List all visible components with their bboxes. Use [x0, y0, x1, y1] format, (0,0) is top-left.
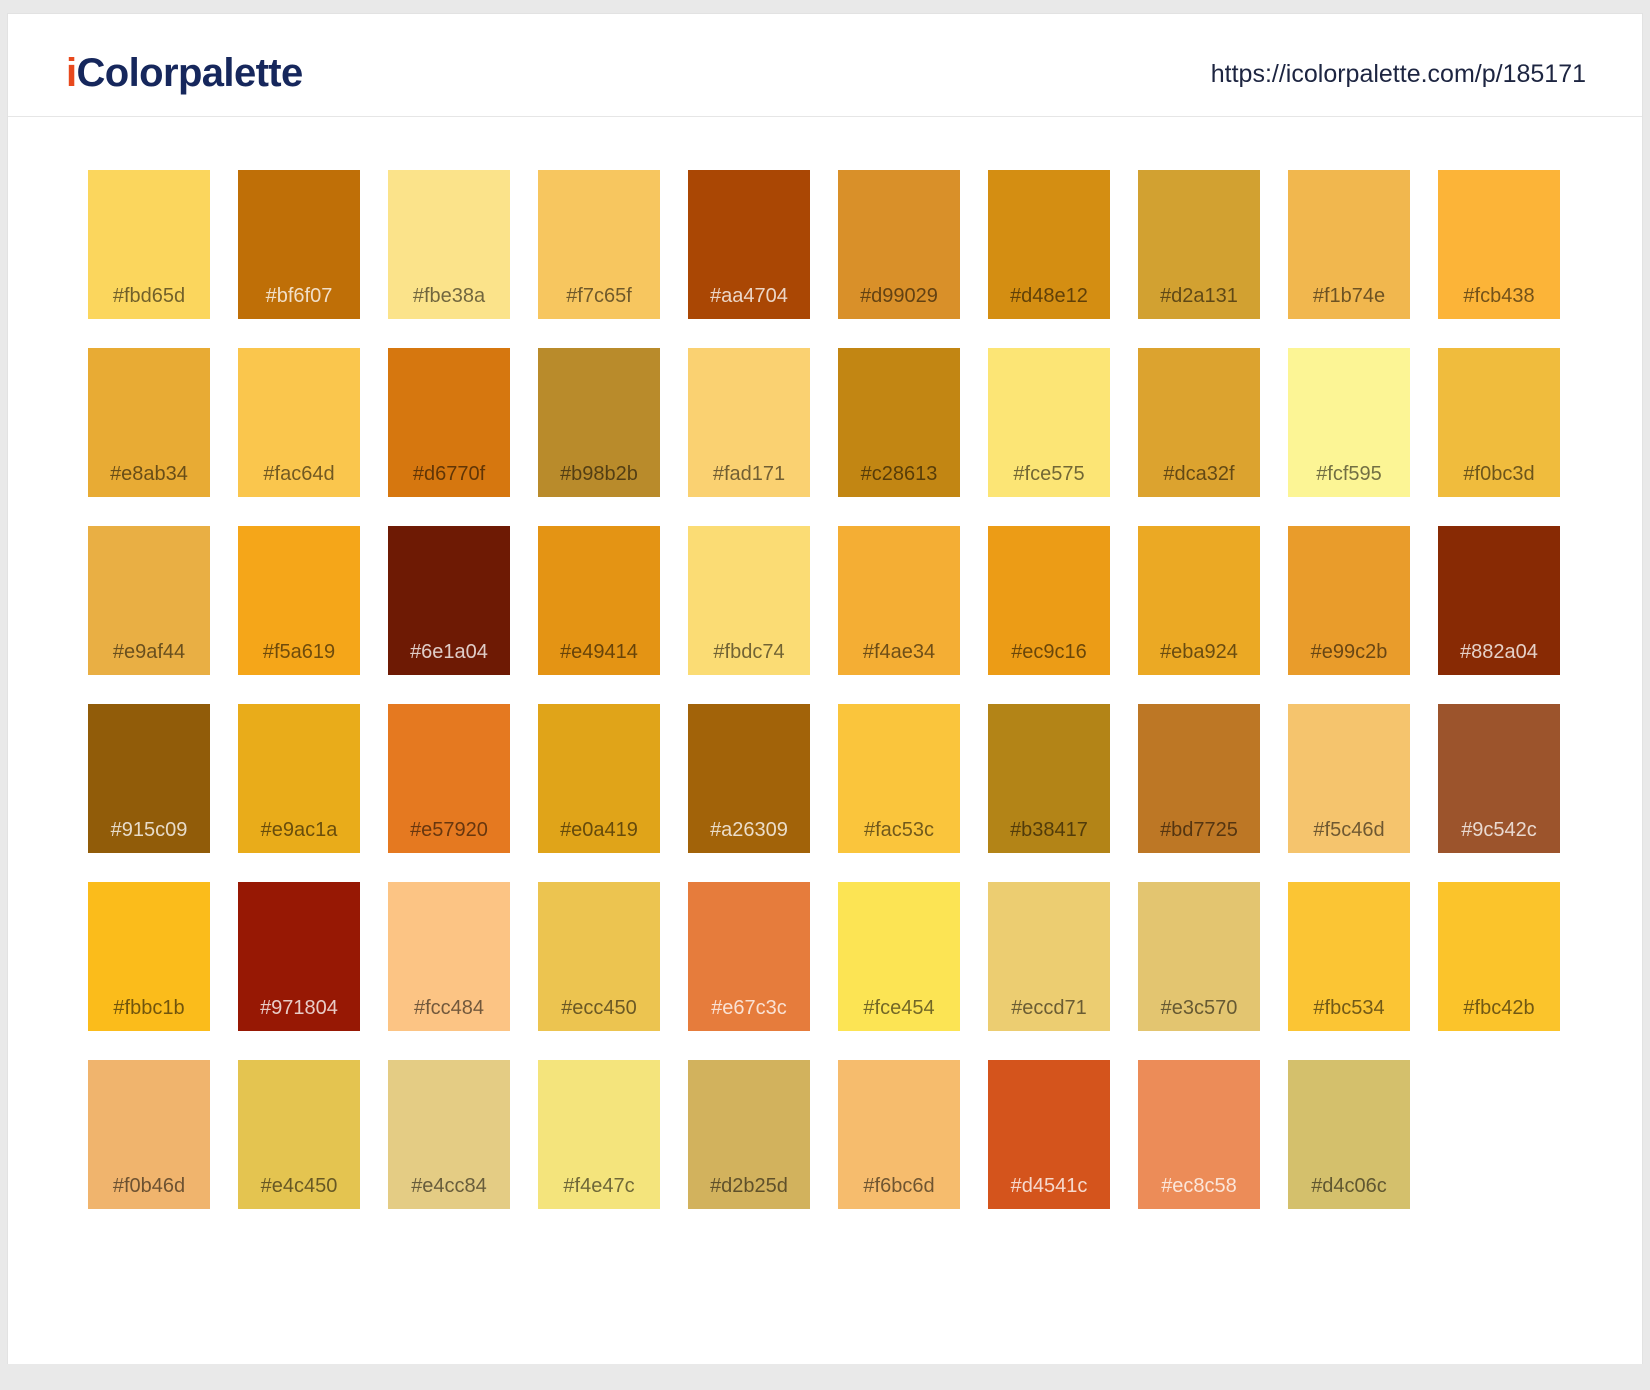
footer-strip: [8, 1340, 1642, 1364]
color-hex-label: #fbe38a: [388, 286, 510, 306]
color-hex-label: #d99029: [838, 286, 960, 306]
color-hex-label: #d6770f: [388, 464, 510, 484]
color-hex-label: #e0a419: [538, 820, 660, 840]
color-hex-label: #9c542c: [1438, 820, 1560, 840]
color-hex-label: #e3c570: [1138, 998, 1260, 1018]
color-swatch[interactable]: #fbc42b: [1424, 882, 1574, 1031]
color-hex-label: #b38417: [988, 820, 1110, 840]
color-swatch[interactable]: #f6bc6d: [824, 1060, 974, 1209]
color-hex-label: #fac64d: [238, 464, 360, 484]
color-swatch[interactable]: #f5a619: [224, 526, 374, 675]
color-hex-label: #e9ac1a: [238, 820, 360, 840]
color-swatch[interactable]: #e9ac1a: [224, 704, 374, 853]
color-swatch[interactable]: #915c09: [74, 704, 224, 853]
color-hex-label: #fbdc74: [688, 642, 810, 662]
color-hex-label: #b98b2b: [538, 464, 660, 484]
color-swatch[interactable]: #e4c450: [224, 1060, 374, 1209]
color-swatch[interactable]: #dca32f: [1124, 348, 1274, 497]
color-swatch[interactable]: #d6770f: [374, 348, 524, 497]
color-swatch[interactable]: #b98b2b: [524, 348, 674, 497]
color-swatch[interactable]: #fcc484: [374, 882, 524, 1031]
color-swatch[interactable]: #fce575: [974, 348, 1124, 497]
color-hex-label: #ecc450: [538, 998, 660, 1018]
color-hex-label: #e99c2b: [1288, 642, 1410, 662]
content-sheet: iColorpalette https://icolorpalette.com/…: [8, 14, 1642, 1364]
color-swatch[interactable]: #9c542c: [1424, 704, 1574, 853]
color-hex-label: #eccd71: [988, 998, 1110, 1018]
bottom-bar: [0, 1364, 1650, 1390]
color-swatch[interactable]: #fbbc1b: [74, 882, 224, 1031]
color-swatch[interactable]: #d48e12: [974, 170, 1124, 319]
color-hex-label: #a26309: [688, 820, 810, 840]
color-hex-label: #eba924: [1138, 642, 1260, 662]
site-header: iColorpalette https://icolorpalette.com/…: [8, 14, 1642, 117]
color-hex-label: #e9af44: [88, 642, 210, 662]
color-swatch[interactable]: #6e1a04: [374, 526, 524, 675]
color-swatch[interactable]: #f4ae34: [824, 526, 974, 675]
color-swatch[interactable]: #e9af44: [74, 526, 224, 675]
color-swatch[interactable]: #eba924: [1124, 526, 1274, 675]
color-hex-label: #fcc484: [388, 998, 510, 1018]
color-swatch[interactable]: #f1b74e: [1274, 170, 1424, 319]
color-swatch[interactable]: #fcb438: [1424, 170, 1574, 319]
color-hex-label: #fcf595: [1288, 464, 1410, 484]
color-swatch[interactable]: #e4cc84: [374, 1060, 524, 1209]
color-hex-label: #e57920: [388, 820, 510, 840]
color-swatch[interactable]: #ec8c58: [1124, 1060, 1274, 1209]
color-swatch[interactable]: #d99029: [824, 170, 974, 319]
color-swatch[interactable]: #fcf595: [1274, 348, 1424, 497]
color-hex-label: #aa4704: [688, 286, 810, 306]
color-hex-label: #d48e12: [988, 286, 1110, 306]
page-root: iColorpalette https://icolorpalette.com/…: [0, 0, 1650, 1390]
color-hex-label: #fbc534: [1288, 998, 1410, 1018]
color-hex-label: #f4e47c: [538, 1176, 660, 1196]
color-swatch[interactable]: #bd7725: [1124, 704, 1274, 853]
palette-row: #fbbc1b#971804#fcc484#ecc450#e67c3c#fce4…: [74, 882, 1574, 1031]
color-hex-label: #fbc42b: [1438, 998, 1560, 1018]
color-hex-label: #d2a131: [1138, 286, 1260, 306]
color-hex-label: #e67c3c: [688, 998, 810, 1018]
color-hex-label: #e4cc84: [388, 1176, 510, 1196]
color-hex-label: #f0b46d: [88, 1176, 210, 1196]
color-swatch[interactable]: #b38417: [974, 704, 1124, 853]
palette-row: #f0b46d#e4c450#e4cc84#f4e47c#d2b25d#f6bc…: [74, 1060, 1574, 1209]
color-hex-label: #915c09: [88, 820, 210, 840]
color-hex-label: #f4ae34: [838, 642, 960, 662]
color-hex-label: #e4c450: [238, 1176, 360, 1196]
color-hex-label: #fac53c: [838, 820, 960, 840]
site-logo[interactable]: iColorpalette: [66, 53, 303, 93]
color-hex-label: #fcb438: [1438, 286, 1560, 306]
color-hex-label: #ec9c16: [988, 642, 1110, 662]
color-hex-label: #bf6f07: [238, 286, 360, 306]
color-hex-label: #fbbc1b: [88, 998, 210, 1018]
color-hex-label: #f5a619: [238, 642, 360, 662]
color-swatch[interactable]: #f0b46d: [74, 1060, 224, 1209]
color-swatch[interactable]: #e57920: [374, 704, 524, 853]
palette-row: #e8ab34#fac64d#d6770f#b98b2b#fad171#c286…: [74, 348, 1574, 497]
color-hex-label: #fad171: [688, 464, 810, 484]
color-swatch[interactable]: #fbd65d: [74, 170, 224, 319]
color-swatch[interactable]: #fbc534: [1274, 882, 1424, 1031]
color-hex-label: #e8ab34: [88, 464, 210, 484]
palette-row: #fbd65d#bf6f07#fbe38a#f7c65f#aa4704#d990…: [74, 170, 1574, 319]
color-swatch[interactable]: #ec9c16: [974, 526, 1124, 675]
color-swatch[interactable]: #d4541c: [974, 1060, 1124, 1209]
logo-wordmark: Colorpalette: [77, 51, 303, 95]
color-swatch[interactable]: #e8ab34: [74, 348, 224, 497]
color-swatch[interactable]: #fbe38a: [374, 170, 524, 319]
color-swatch[interactable]: #fac64d: [224, 348, 374, 497]
logo-letter-i: i: [66, 51, 77, 95]
color-swatch[interactable]: #e3c570: [1124, 882, 1274, 1031]
color-hex-label: #971804: [238, 998, 360, 1018]
color-hex-label: #f5c46d: [1288, 820, 1410, 840]
color-hex-label: #bd7725: [1138, 820, 1260, 840]
color-hex-label: #6e1a04: [388, 642, 510, 662]
color-hex-label: #fce454: [838, 998, 960, 1018]
color-swatch[interactable]: #fce454: [824, 882, 974, 1031]
page-url: https://icolorpalette.com/p/185171: [1211, 62, 1586, 87]
color-hex-label: #882a04: [1438, 642, 1560, 662]
color-hex-label: #ec8c58: [1138, 1176, 1260, 1196]
color-swatch[interactable]: #d2b25d: [674, 1060, 824, 1209]
color-swatch[interactable]: #ecc450: [524, 882, 674, 1031]
color-swatch[interactable]: #e99c2b: [1274, 526, 1424, 675]
color-hex-label: #d4541c: [988, 1176, 1110, 1196]
color-hex-label: #d4c06c: [1288, 1176, 1410, 1196]
color-hex-label: #f0bc3d: [1438, 464, 1560, 484]
color-swatch[interactable]: #882a04: [1424, 526, 1574, 675]
color-swatch[interactable]: #f5c46d: [1274, 704, 1424, 853]
color-swatch[interactable]: #f7c65f: [524, 170, 674, 319]
color-hex-label: #fbd65d: [88, 286, 210, 306]
color-hex-label: #d2b25d: [688, 1176, 810, 1196]
palette-row: #915c09#e9ac1a#e57920#e0a419#a26309#fac5…: [74, 704, 1574, 853]
color-swatch[interactable]: #bf6f07: [224, 170, 374, 319]
color-swatch[interactable]: #d2a131: [1124, 170, 1274, 319]
color-hex-label: #f6bc6d: [838, 1176, 960, 1196]
color-hex-label: #dca32f: [1138, 464, 1260, 484]
color-swatch[interactable]: #f0bc3d: [1424, 348, 1574, 497]
color-swatch[interactable]: #fac53c: [824, 704, 974, 853]
color-swatch[interactable]: #e67c3c: [674, 882, 824, 1031]
palette-row: #e9af44#f5a619#6e1a04#e49414#fbdc74#f4ae…: [74, 526, 1574, 675]
color-hex-label: #f7c65f: [538, 286, 660, 306]
color-swatch[interactable]: #a26309: [674, 704, 824, 853]
color-hex-label: #f1b74e: [1288, 286, 1410, 306]
color-swatch[interactable]: #fbdc74: [674, 526, 824, 675]
color-swatch[interactable]: #aa4704: [674, 170, 824, 319]
color-swatch[interactable]: #f4e47c: [524, 1060, 674, 1209]
color-swatch[interactable]: #fad171: [674, 348, 824, 497]
color-palette-grid: #fbd65d#bf6f07#fbe38a#f7c65f#aa4704#d990…: [74, 170, 1574, 1238]
color-hex-label: #e49414: [538, 642, 660, 662]
color-swatch[interactable]: #d4c06c: [1274, 1060, 1424, 1209]
color-swatch[interactable]: #c28613: [824, 348, 974, 497]
color-swatch[interactable]: #eccd71: [974, 882, 1124, 1031]
color-hex-label: #fce575: [988, 464, 1110, 484]
color-swatch[interactable]: #e49414: [524, 526, 674, 675]
color-hex-label: #c28613: [838, 464, 960, 484]
color-swatch[interactable]: #e0a419: [524, 704, 674, 853]
color-swatch[interactable]: #971804: [224, 882, 374, 1031]
